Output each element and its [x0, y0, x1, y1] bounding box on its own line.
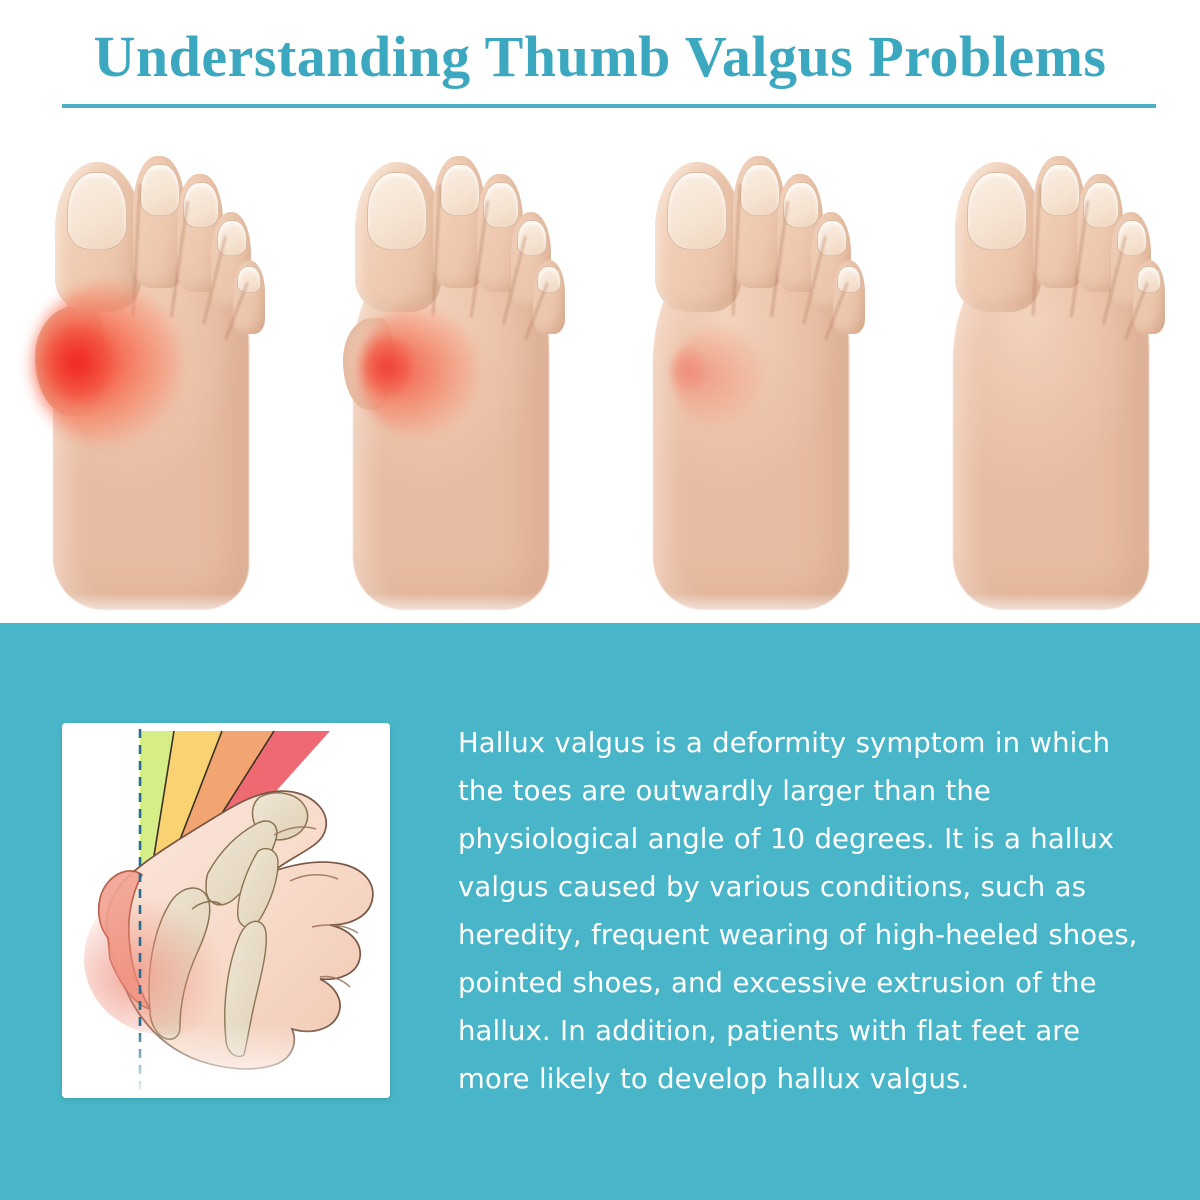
- second-toenail: [740, 164, 780, 216]
- hallux-valgus-angle-diagram-card: [62, 723, 390, 1098]
- foot-photo-strip: [0, 120, 1200, 623]
- big-toenail: [667, 172, 727, 250]
- hallux-valgus-angle-diagram: [62, 723, 390, 1098]
- third-toenail: [183, 182, 219, 228]
- title-underline-rule: [62, 104, 1156, 108]
- third-toenail: [1083, 182, 1119, 228]
- infographic-page: Understanding Thumb Valgus Problems: [0, 0, 1200, 1200]
- body-paragraph: Hallux valgus is a deformity symptom in …: [458, 719, 1150, 1103]
- instep-tendons: [685, 318, 825, 468]
- instep-tendons: [385, 318, 525, 468]
- fifth-toenail: [1137, 266, 1161, 293]
- page-title: Understanding Thumb Valgus Problems: [0, 28, 1200, 86]
- header: Understanding Thumb Valgus Problems: [0, 0, 1200, 120]
- second-toenail: [1040, 164, 1080, 216]
- joint-inflammation-blush: [84, 883, 248, 1035]
- instep-tendons: [985, 318, 1125, 468]
- fifth-toenail: [537, 266, 561, 293]
- second-toenail: [440, 164, 480, 216]
- big-toenail: [367, 172, 427, 250]
- foot-photo-normal: [900, 120, 1200, 623]
- foot-photo-severe: [0, 120, 300, 623]
- second-toenail: [140, 164, 180, 216]
- instep-tendons: [85, 318, 225, 468]
- info-panel: Hallux valgus is a deformity symptom in …: [0, 623, 1200, 1200]
- third-toenail: [783, 182, 819, 228]
- foot-photo-mild: [600, 120, 900, 623]
- foot-photo-moderate: [300, 120, 600, 623]
- big-toenail: [967, 172, 1027, 250]
- big-toenail: [67, 172, 127, 250]
- fifth-toenail: [837, 266, 861, 293]
- fifth-toenail: [237, 266, 261, 293]
- third-toenail: [483, 182, 519, 228]
